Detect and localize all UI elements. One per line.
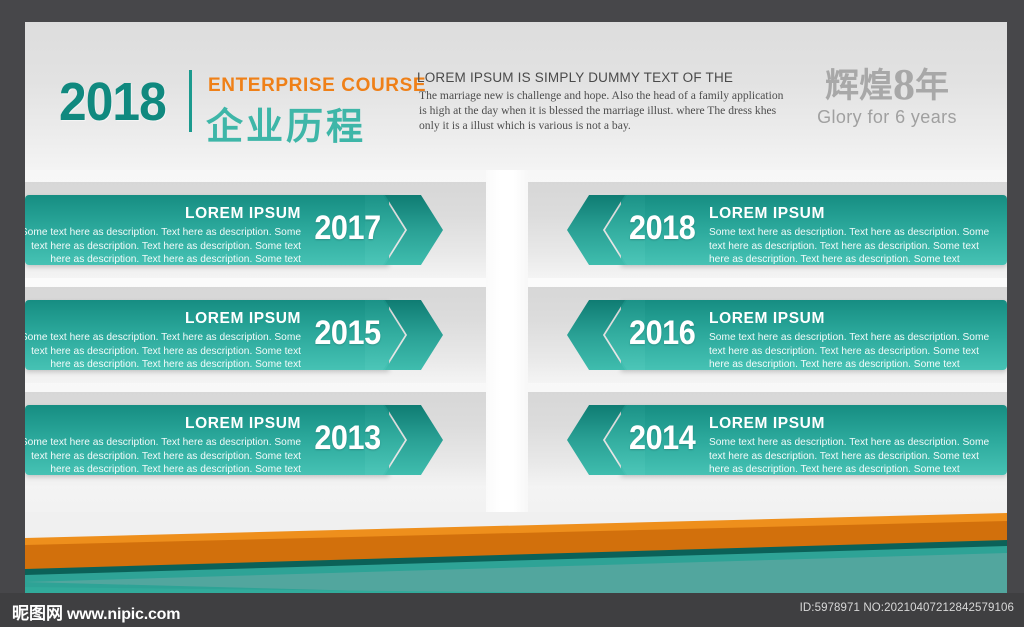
bar-text-block: LOREM IPSUM Some text here as descriptio… [709, 310, 999, 372]
timeline-area: LOREM IPSUM Some text here as descriptio… [25, 170, 1007, 512]
poster-frame: 2018 ENTERPRISE COURSE 企业历程 LOREM IPSUM … [0, 0, 1024, 627]
header-title-cn: 企业历程 [206, 96, 366, 150]
timeline-bar-2014[interactable]: LOREM IPSUM Some text here as descriptio… [545, 405, 1007, 475]
header-glory-cn: 辉煌8年 [782, 66, 992, 105]
logo-text-url: www.nipic.com [67, 606, 180, 624]
header-lorem-heading: LOREM IPSUM IS SIMPLY DUMMY TEXT OF THE [417, 70, 777, 85]
timeline-bar-2018[interactable]: LOREM IPSUM Some text here as descriptio… [545, 195, 1007, 265]
bar-description: Some text here as description. Text here… [709, 331, 999, 372]
header-glory-en: Glory for 6 years [782, 107, 992, 128]
center-gutter [486, 170, 528, 512]
timeline-bar-2016[interactable]: LOREM IPSUM Some text here as descriptio… [545, 300, 1007, 370]
header-paragraph: The marriage new is challenge and hope. … [419, 88, 793, 133]
bar-title: LOREM IPSUM [709, 205, 999, 223]
bar-year: 2013 [315, 419, 381, 458]
glory-prefix: 辉煌 [825, 67, 893, 105]
header-title-en: ENTERPRISE COURSE [208, 75, 426, 97]
timeline-bar-2013[interactable]: LOREM IPSUM Some text here as descriptio… [25, 405, 465, 475]
header-glory-block: 辉煌8年 Glory for 6 years [782, 66, 992, 128]
header-divider [189, 70, 192, 132]
glory-suffix: 年 [915, 67, 949, 105]
header-year: 2018 [59, 71, 166, 133]
bar-year: 2014 [629, 419, 695, 458]
footer-bar: 昵图网 www.nipic.com ID:5978971 NO:20210407… [0, 593, 1024, 627]
bar-title: LOREM IPSUM [25, 205, 301, 223]
bar-year: 2016 [629, 314, 695, 353]
glory-number: 8 [893, 60, 915, 109]
bar-text-block: LOREM IPSUM Some text here as descriptio… [709, 415, 999, 477]
asset-id-text: ID:5978971 NO:20210407212842579106 [800, 602, 1014, 614]
bar-description: Some text here as description. Text here… [25, 436, 301, 477]
bar-description: Some text here as description. Text here… [25, 226, 301, 267]
poster-header: 2018 ENTERPRISE COURSE 企业历程 LOREM IPSUM … [25, 22, 1007, 170]
bar-title: LOREM IPSUM [709, 415, 999, 433]
site-logo[interactable]: 昵图网 www.nipic.com [12, 599, 180, 624]
bar-year: 2015 [315, 314, 381, 353]
bar-description: Some text here as description. Text here… [709, 226, 999, 267]
bar-year: 2018 [629, 209, 695, 248]
bar-title: LOREM IPSUM [709, 310, 999, 328]
bar-text-block: LOREM IPSUM Some text here as descriptio… [709, 205, 999, 267]
timeline-bar-2017[interactable]: LOREM IPSUM Some text here as descriptio… [25, 195, 465, 265]
bar-text-block: LOREM IPSUM Some text here as descriptio… [25, 205, 301, 267]
bar-title: LOREM IPSUM [25, 310, 301, 328]
bar-description: Some text here as description. Text here… [25, 331, 301, 372]
bar-description: Some text here as description. Text here… [709, 436, 999, 477]
timeline-bar-2015[interactable]: LOREM IPSUM Some text here as descriptio… [25, 300, 465, 370]
bar-title: LOREM IPSUM [25, 415, 301, 433]
logo-text-cn: 昵图网 [12, 599, 63, 624]
bar-text-block: LOREM IPSUM Some text here as descriptio… [25, 310, 301, 372]
poster-canvas: 2018 ENTERPRISE COURSE 企业历程 LOREM IPSUM … [25, 22, 1007, 593]
bar-text-block: LOREM IPSUM Some text here as descriptio… [25, 415, 301, 477]
bar-year: 2017 [315, 209, 381, 248]
